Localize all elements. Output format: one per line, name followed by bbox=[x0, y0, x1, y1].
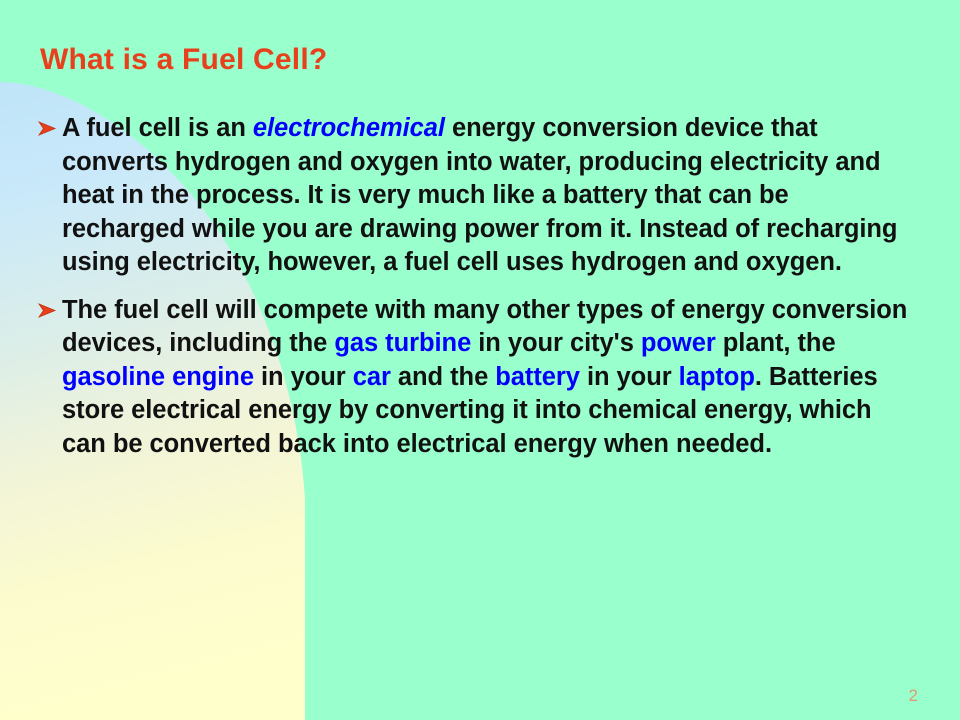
highlighted-term: gas turbine bbox=[334, 329, 471, 357]
highlighted-term: laptop bbox=[679, 363, 755, 391]
text-run: plant, the bbox=[716, 329, 836, 357]
highlighted-term: battery bbox=[495, 363, 580, 391]
bullet-paragraph-1: A fuel cell is an electrochemical energy… bbox=[36, 112, 916, 280]
page-title: What is a Fuel Cell? bbox=[40, 44, 900, 76]
text-run: in your bbox=[580, 363, 679, 391]
highlighted-term: power bbox=[641, 329, 716, 357]
text-run: and the bbox=[391, 363, 495, 391]
text-run: A fuel cell is an bbox=[62, 114, 253, 142]
paragraph-2-text: The fuel cell will compete with many oth… bbox=[62, 296, 907, 458]
arrowhead-bullet-icon bbox=[36, 118, 58, 140]
page-number: 2 bbox=[909, 686, 918, 706]
body-content: A fuel cell is an electrochemical energy… bbox=[36, 112, 916, 461]
bullet-paragraph-2: The fuel cell will compete with many oth… bbox=[36, 294, 916, 462]
highlighted-term: gasoline engine bbox=[62, 363, 254, 391]
slide-canvas: What is a Fuel Cell? A fuel cell is an e… bbox=[0, 0, 960, 720]
paragraph-1-text: A fuel cell is an electrochemical energy… bbox=[62, 114, 897, 276]
text-run: in your bbox=[254, 363, 353, 391]
highlighted-term-italic: electrochemical bbox=[253, 114, 445, 142]
arrowhead-bullet-icon bbox=[36, 300, 58, 322]
text-run: in your city's bbox=[471, 329, 641, 357]
highlighted-term: car bbox=[353, 363, 391, 391]
